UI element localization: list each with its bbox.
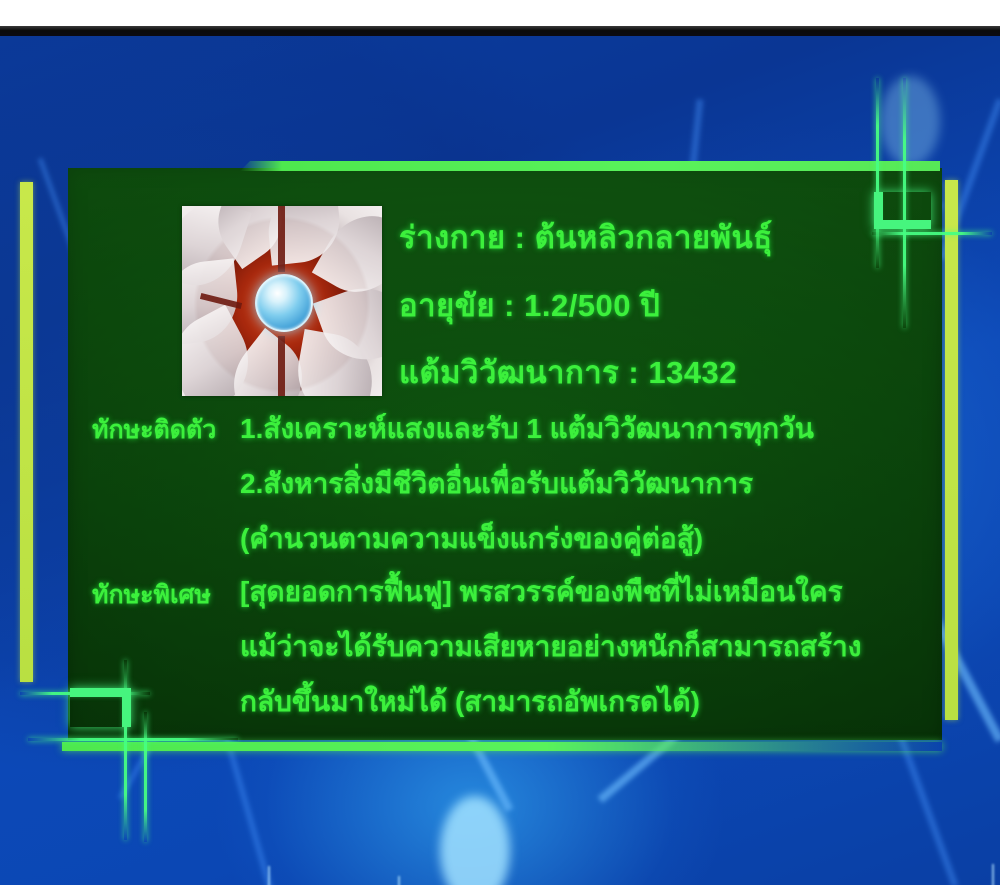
orb-core-icon <box>255 274 313 332</box>
frame-glow-line-tr-1 <box>876 78 879 268</box>
frame-bottom-accent-bar <box>62 742 942 751</box>
frame-glow-line-bl-4 <box>144 712 147 842</box>
special-skills-line-1: [สุดยอดการฟื้นฟู] พรสวรรค์ของพืชที่ไม่เห… <box>240 578 843 606</box>
innate-skills-label: ทักษะติดตัว <box>92 418 216 443</box>
frame-left-accent-bar <box>20 182 33 682</box>
frame-bracket-bottom-left <box>70 688 131 727</box>
screenshot-root: ร่างกาย : ต้นหลิวกลายพันธุ์ อายุขัย : 1.… <box>0 0 1000 885</box>
top-white-margin <box>0 0 1000 26</box>
stat-line-body: ร่างกาย : ต้นหลิวกลายพันธุ์ <box>399 222 773 253</box>
frame-top-accent-bar <box>240 161 940 171</box>
special-skills-line-3: กลับขึ้นมาใหม่ได้ (สามารถอัพเกรดได้) <box>240 688 700 716</box>
avatar <box>182 206 382 396</box>
frame-right-accent-bar <box>945 180 958 720</box>
frame-bracket-top-right <box>874 192 931 229</box>
special-skills-line-2: แม้ว่าจะได้รับความเสียหายอย่างหนักก็สามา… <box>240 633 861 661</box>
frame-glow-line-bl-1 <box>124 660 127 840</box>
frame-glow-line-bl-3 <box>28 738 238 741</box>
special-skills-label: ทักษะพิเศษ <box>92 583 211 608</box>
stat-line-lifespan: อายุขัย : 1.2/500 ปี <box>399 290 660 321</box>
innate-skills-line-3: (คำนวนตามความแข็งแกร่งของคู่ต่อสู้) <box>240 525 703 553</box>
innate-skills-line-1: 1.สังเคราะห์แสงและรับ 1 แต้มวิวัฒนาการทุ… <box>240 415 814 443</box>
stat-line-evolution-points: แต้มวิวัฒนาการ : 13432 <box>399 357 737 388</box>
frame-glow-line-tr-3 <box>872 232 992 235</box>
innate-skills-line-2: 2.สังหารสิ่งมีชีวิตอื่นเพื่อรับแต้มวิวัฒ… <box>240 470 753 498</box>
top-dark-band <box>0 26 1000 36</box>
